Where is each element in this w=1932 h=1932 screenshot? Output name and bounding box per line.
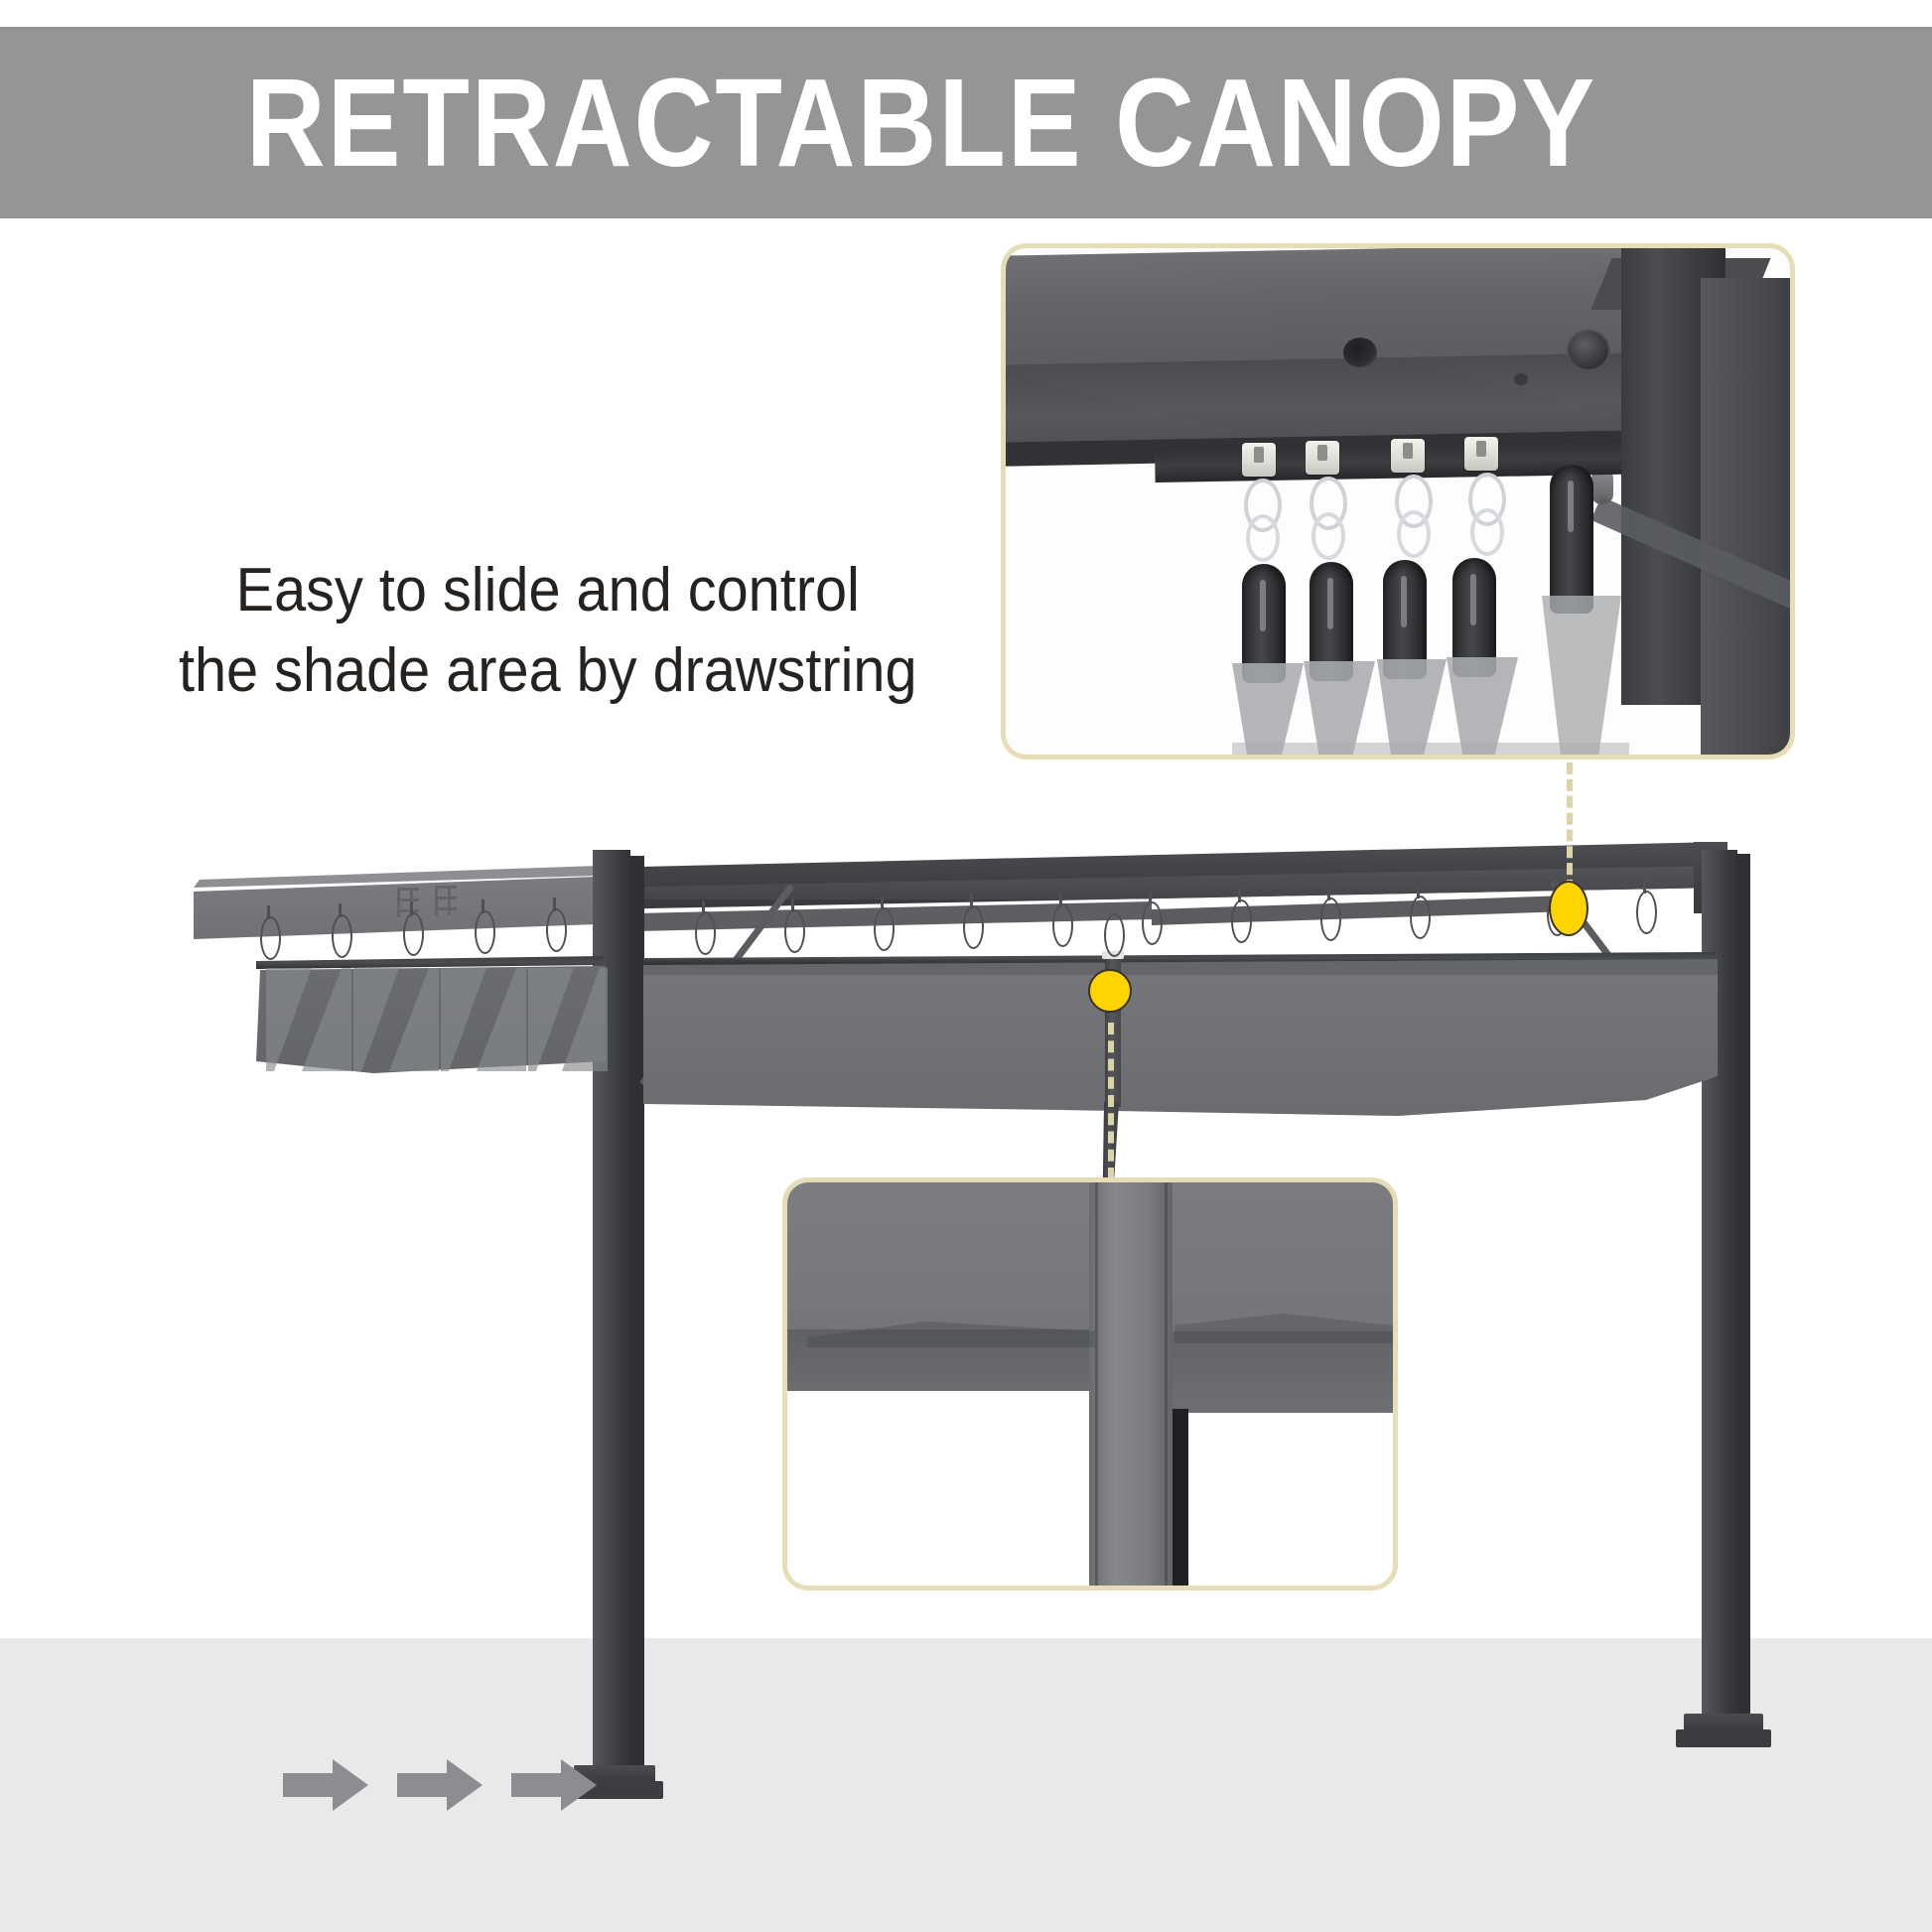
canopy-hook-stem: [1059, 893, 1062, 906]
slide-arrow: [397, 1759, 483, 1811]
canopy-hook-stem: [339, 903, 342, 917]
post-base-right-plate: [1676, 1729, 1771, 1747]
glider-clip: [1391, 439, 1425, 473]
canopy-hook: [1142, 901, 1163, 945]
corner-post-side: [1701, 278, 1790, 755]
canopy-fabric-right: [1150, 1182, 1393, 1413]
drawstring-detail-photo: [782, 1177, 1398, 1590]
feature-caption: Easy to slide and control the shade area…: [109, 551, 987, 711]
callout-leader-drawstring: [1108, 1023, 1114, 1179]
canopy-hook: [1052, 903, 1073, 947]
small-hole-icon: [1514, 373, 1528, 385]
canopy-hook-stem: [1327, 887, 1330, 900]
callout-marker-rail: [1549, 881, 1588, 936]
arrow-shaft: [511, 1773, 565, 1797]
hex-bolt-icon: [1567, 330, 1610, 371]
gathered-fabric-tube: [1550, 465, 1593, 614]
arrow-head-icon: [447, 1759, 483, 1811]
canopy-hook: [695, 911, 716, 955]
canopy-hook: [403, 912, 424, 956]
beam-rivets: [435, 886, 457, 915]
header-banner: RETRACTABLE CANOPY: [0, 27, 1932, 218]
arrow-shaft: [283, 1773, 337, 1797]
photo-content: [787, 1182, 1393, 1586]
glider-clip: [1464, 437, 1498, 471]
page-title: RETRACTABLE CANOPY: [246, 61, 1596, 186]
glider-clip: [1242, 443, 1276, 477]
canopy-hook: [784, 909, 805, 953]
caption-line-2: the shade area by drawstring: [109, 631, 987, 712]
canopy-open-panel: [643, 959, 1718, 1116]
strap-seam: [1095, 1182, 1098, 1586]
canopy-fabric-shadow: [1232, 743, 1629, 755]
rail-glider-detail-photo: [1001, 243, 1795, 759]
canopy-hook: [332, 914, 352, 958]
canopy-hook-stem: [553, 897, 556, 911]
arrow-head-icon: [561, 1759, 597, 1811]
canopy-hook-stem: [881, 897, 884, 910]
drawstring-hook: [1104, 913, 1125, 957]
s-hook-icon: [1246, 514, 1280, 562]
canopy-hook: [475, 910, 495, 954]
slide-arrow: [283, 1759, 368, 1811]
photo-content: [1006, 248, 1790, 755]
canopy-hook: [963, 905, 984, 949]
canopy-hook-stem: [702, 900, 705, 914]
canopy-hook-stem: [1238, 889, 1241, 902]
canopy-guide-rail-2: [1152, 896, 1569, 925]
canopy-hook: [1320, 897, 1341, 941]
canopy-hook: [1410, 896, 1431, 939]
canopy-hook-stem: [267, 905, 270, 919]
canopy-hook: [546, 908, 567, 952]
callout-leader-rail: [1567, 762, 1573, 892]
canopy-hook-stem: [791, 898, 794, 912]
canopy-hook: [874, 907, 895, 951]
canopy-hook-stem: [1149, 891, 1152, 904]
pergola-post-right-side: [1737, 854, 1750, 1722]
canopy-hook: [1231, 899, 1252, 943]
canopy-hook-stem: [410, 901, 413, 915]
glider-clip: [1306, 441, 1339, 475]
drawstring-strap-closeup: [1089, 1182, 1173, 1586]
canopy-hook-stem: [1643, 880, 1646, 894]
front-beam-left: [194, 877, 596, 939]
s-hook-icon: [1397, 510, 1431, 558]
canopy-hook: [260, 916, 281, 960]
bolt-hole-icon: [1343, 338, 1377, 367]
arrow-shaft: [397, 1773, 451, 1797]
pergola-post-left-side: [630, 856, 644, 1773]
canopy-hook-stem: [482, 899, 484, 913]
slide-arrow: [511, 1759, 597, 1811]
fabric-shadow: [1171, 1409, 1188, 1586]
canopy-hook: [1636, 891, 1657, 934]
canopy-hook-stem: [1417, 885, 1420, 898]
arrow-head-icon: [333, 1759, 368, 1811]
callout-marker-drawstring: [1088, 969, 1132, 1013]
caption-line-1: Easy to slide and control: [109, 551, 987, 631]
canopy-top-shadow: [643, 959, 1718, 975]
strap-seam: [1165, 1182, 1168, 1586]
s-hook-icon: [1470, 508, 1504, 556]
canopy-hook-stem: [970, 895, 973, 908]
s-hook-icon: [1311, 512, 1345, 560]
infographic-canvas: RETRACTABLE CANOPY Easy to slide and con…: [0, 0, 1932, 1932]
